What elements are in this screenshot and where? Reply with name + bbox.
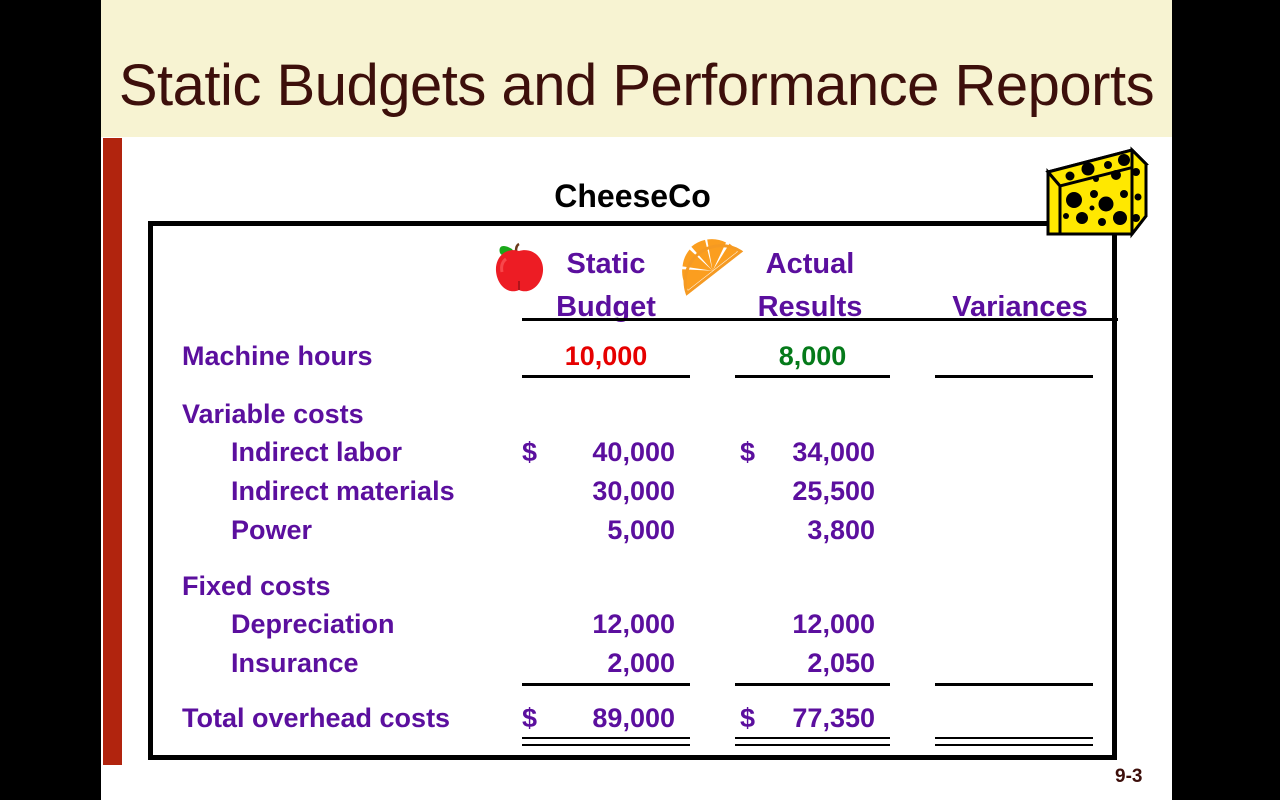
total-double-underline-budget-bottom	[522, 744, 690, 746]
total-double-underline-budget-top	[522, 737, 690, 739]
row-underline-actual	[735, 375, 890, 378]
table-cell-actual: $ 77,350	[740, 703, 875, 734]
subtotal-underline-budget	[522, 683, 690, 686]
cell-value: 77,350	[792, 703, 875, 733]
total-double-underline-actual-bottom	[735, 744, 890, 746]
table-cell-actual: 25,500	[740, 476, 875, 507]
currency-symbol: $	[522, 703, 537, 734]
slide-root: Static Budgets and Performance Reports C…	[0, 0, 1280, 800]
accent-bar	[103, 138, 122, 765]
column-header-variances: Variances	[930, 286, 1110, 329]
header-line-budget: Budget	[531, 286, 681, 329]
table-row-label: Insurance	[231, 648, 359, 679]
table-cell-budget: 5,000	[522, 515, 675, 546]
table-cell-budget: 30,000	[522, 476, 675, 507]
company-name: CheeseCo	[148, 178, 1117, 215]
page-title: Static Budgets and Performance Reports	[101, 52, 1172, 119]
column-header-static-budget: Static Budget	[531, 243, 681, 329]
currency-symbol: $	[522, 437, 537, 468]
row-underline-budget	[522, 375, 690, 378]
table-row-label: Fixed costs	[182, 571, 331, 602]
page-number: 9-3	[1115, 766, 1142, 788]
table-row-label: Indirect materials	[231, 476, 455, 507]
table-row-label: Total overhead costs	[182, 703, 450, 734]
currency-symbol: $	[740, 703, 755, 734]
table-cell-budget: 12,000	[522, 609, 675, 640]
header-line-results: Results	[735, 286, 885, 329]
currency-symbol: $	[740, 437, 755, 468]
header-line-actual: Actual	[735, 243, 885, 286]
table-cell-budget: 2,000	[522, 648, 675, 679]
title-band: Static Budgets and Performance Reports	[101, 0, 1172, 137]
table-cell-budget: $ 89,000	[522, 703, 675, 734]
total-double-underline-variance-bottom	[935, 744, 1093, 746]
total-double-underline-actual-top	[735, 737, 890, 739]
table-row-label: Variable costs	[182, 399, 364, 430]
table-row-label: Depreciation	[231, 609, 395, 640]
table-cell-actual: 2,050	[740, 648, 875, 679]
subtotal-underline-actual	[735, 683, 890, 686]
cell-value: 89,000	[592, 703, 675, 733]
table-row-label: Indirect labor	[231, 437, 402, 468]
column-header-actual-results: Actual Results	[735, 243, 885, 329]
header-line-static: Static	[531, 243, 681, 286]
table-cell-actual: $ 34,000	[740, 437, 875, 468]
table-cell-actual: 12,000	[740, 609, 875, 640]
table-cell-budget: 10,000	[522, 341, 690, 372]
cell-value: 34,000	[792, 437, 875, 467]
cell-value: 40,000	[592, 437, 675, 467]
table-row-label: Power	[231, 515, 312, 546]
table-row-label: Machine hours	[182, 341, 373, 372]
subtotal-underline-variance	[935, 683, 1093, 686]
table-cell-budget: $ 40,000	[522, 437, 675, 468]
table-cell-actual: 8,000	[735, 341, 890, 372]
table-cell-actual: 3,800	[740, 515, 875, 546]
cheese-wedge-icon	[1036, 142, 1154, 260]
total-double-underline-variance-top	[935, 737, 1093, 739]
header-underline	[522, 318, 1118, 321]
row-underline-variance	[935, 375, 1093, 378]
